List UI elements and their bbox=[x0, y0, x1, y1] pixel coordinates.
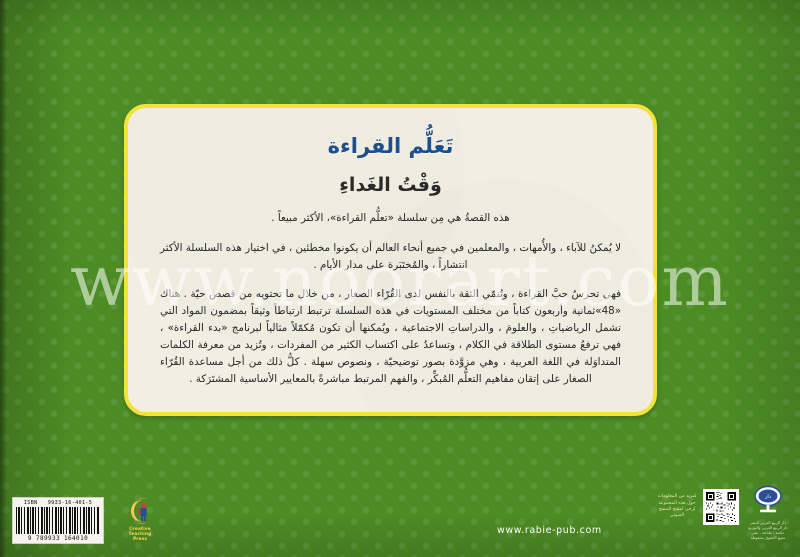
isbn-number: 9933-16-401-5 bbox=[48, 500, 93, 506]
book-title: وَقْتُ الغَداءِ bbox=[154, 174, 627, 196]
barcode-bars bbox=[16, 507, 100, 534]
blurb-paragraph-1: هذه القصةُ هي مِن سلسلة «تعلُّم القراءة»… bbox=[160, 210, 621, 227]
publisher-seal: دار دار الربيع العربي للنشر دار الربيع ا… bbox=[742, 485, 794, 540]
blurb-paragraph-3: فهي تحرسُ حبَّ القراءة ، وتُنمّي الثقة ب… bbox=[160, 286, 621, 388]
qr-section: لمزيد من المعلومات حول هذه المجموعة يُرج… bbox=[655, 489, 739, 525]
creative-teaching-press-logo: Creative Teaching Press bbox=[118, 496, 162, 548]
qr-code-icon[interactable] bbox=[703, 489, 739, 525]
book-back-cover: تَعَلُّم القراءة وَقْتُ الغَداءِ هذه الق… bbox=[0, 0, 800, 557]
isbn-label: ISBN bbox=[24, 500, 38, 506]
publisher-website-url[interactable]: www.rabie-pub.com bbox=[497, 525, 602, 536]
isbn-line: ISBN 9933-16-401-5 bbox=[16, 500, 100, 506]
qr-caption-line-4: الضوئي bbox=[655, 513, 699, 519]
publisher-seal-icon: دار bbox=[742, 485, 794, 519]
series-title: تَعَلُّم القراءة bbox=[154, 134, 627, 158]
blurb-text: هذه القصةُ هي مِن سلسلة «تعلُّم القراءة»… bbox=[154, 210, 627, 388]
svg-text:دار: دار bbox=[764, 494, 771, 500]
seal-caption-line-4: جميع الحقوق محفوظة bbox=[742, 535, 794, 540]
qr-caption: لمزيد من المعلومات حول هذه المجموعة يُرج… bbox=[655, 494, 699, 520]
bottom-strip: ISBN 9933-16-401-5 9 789933 164010 bbox=[0, 477, 800, 557]
barcode-digits: 9 789933 164010 bbox=[16, 535, 100, 542]
publisher-logo-line-3: Press bbox=[118, 537, 162, 542]
isbn-barcode: ISBN 9933-16-401-5 9 789933 164010 bbox=[12, 497, 104, 544]
publisher-logo-text: Creative Teaching Press bbox=[118, 527, 162, 542]
spine-shadow bbox=[0, 0, 7, 557]
blurb-paragraph-2: لا يُمكنُ للآباء ، والأُمهات ، والمعلمين… bbox=[160, 240, 621, 274]
publisher-seal-caption: دار الربيع العربي للنشر دار الربيع العرب… bbox=[742, 520, 794, 540]
qr-caption-line-1: لمزيد من المعلومات bbox=[655, 494, 699, 500]
blurb-card: تَعَلُّم القراءة وَقْتُ الغَداءِ هذه الق… bbox=[124, 104, 657, 416]
crescent-moon-icon bbox=[125, 496, 155, 526]
